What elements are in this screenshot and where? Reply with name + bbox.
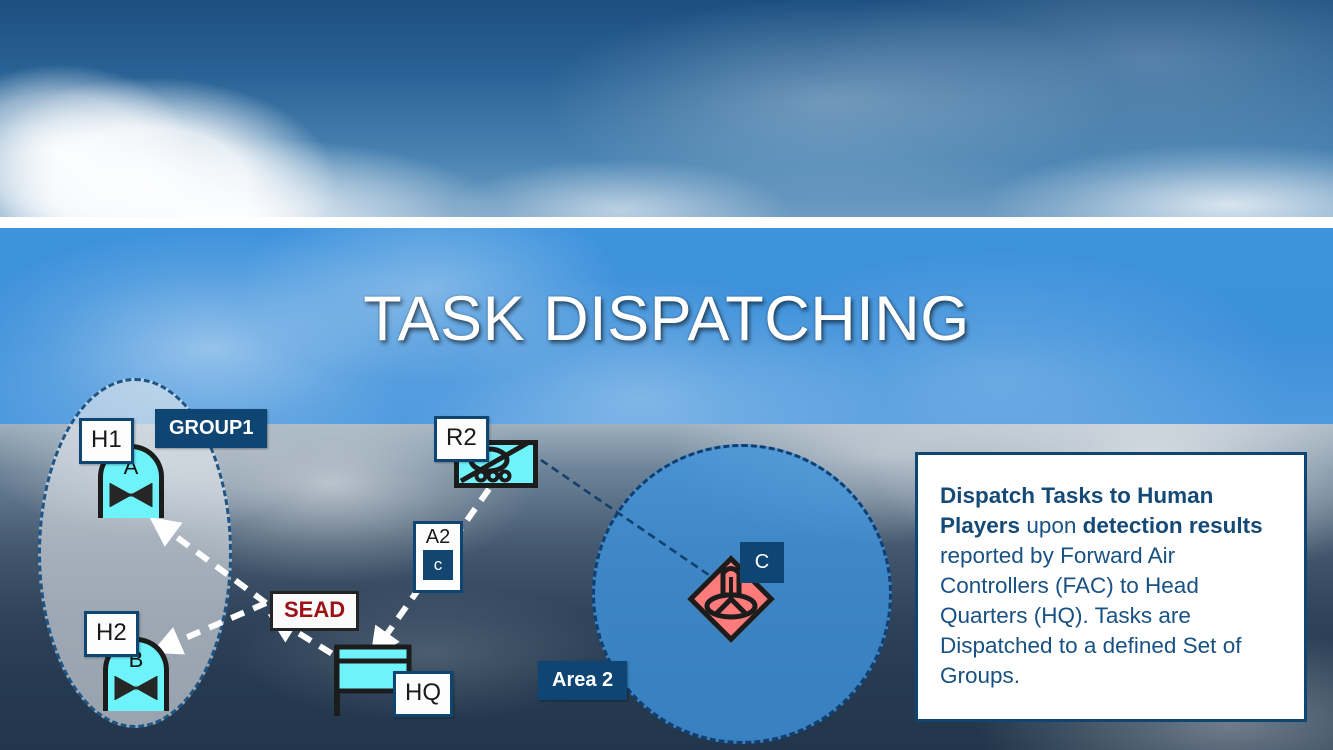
slide-canvas: TASK DISPATCHING A H1 B [0, 0, 1333, 750]
task-marker-id: A2 [426, 527, 450, 547]
page-title: TASK DISPATCHING [0, 282, 1333, 356]
task-marker-badge: c [423, 550, 453, 580]
description-textbox: Dispatch Tasks to Human Players upon det… [915, 452, 1307, 722]
rotor-bowtie-icon [114, 676, 158, 700]
description-bold-2: detection results [1083, 513, 1263, 538]
rotor-bowtie-icon [109, 483, 153, 507]
group1-label: GROUP1 [155, 409, 267, 448]
description-plain-2: reported by Forward Air Controllers (FAC… [940, 543, 1241, 688]
description-text: Dispatch Tasks to Human Players upon det… [940, 481, 1282, 691]
task-label-sead: SEAD [270, 591, 359, 631]
band-separator [0, 217, 1333, 228]
unit-id-h1[interactable]: H1 [79, 418, 134, 464]
description-plain-1: upon [1020, 513, 1083, 538]
task-marker-a2[interactable]: A2 c [413, 521, 463, 593]
unit-id-h2[interactable]: H2 [84, 611, 139, 657]
area2-label: Area 2 [538, 661, 627, 700]
hostile-badge-c: C [740, 542, 784, 583]
sky-band-top [0, 0, 1333, 217]
unit-id-hq[interactable]: HQ [393, 671, 453, 717]
unit-id-r2[interactable]: R2 [434, 416, 489, 462]
